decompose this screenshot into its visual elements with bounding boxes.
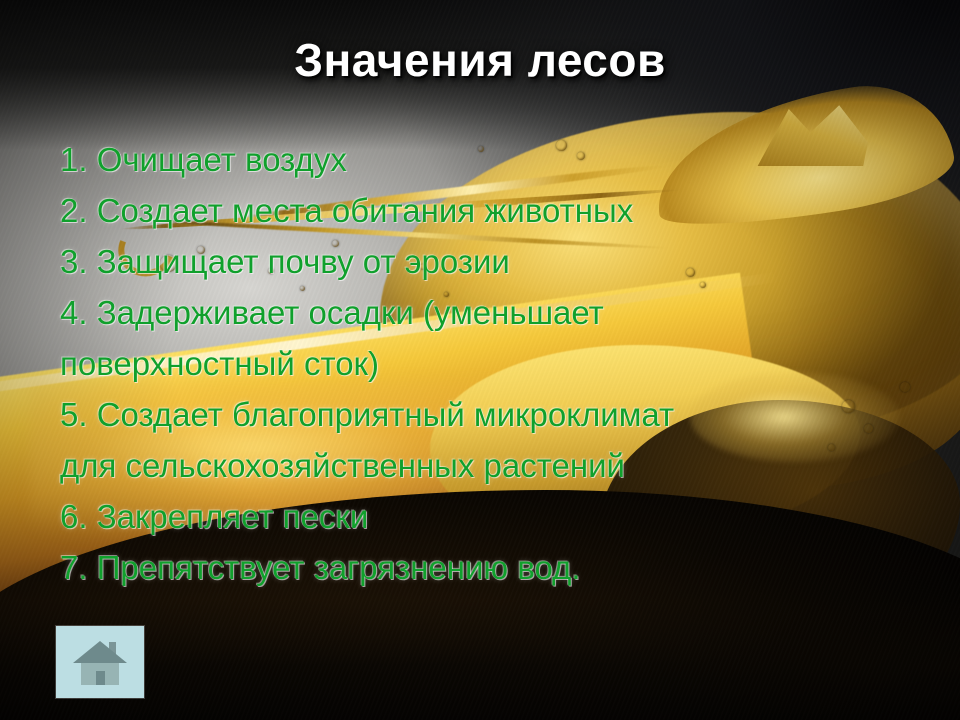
page-title: Значения лесов: [0, 33, 960, 87]
list-item: 4. Задерживает осадки (уменьшает: [60, 287, 910, 338]
home-icon: [71, 637, 129, 687]
list-item: 6. Закрепляет пески: [60, 491, 910, 542]
list-item: 3. Защищает почву от эрозии: [60, 236, 910, 287]
list-item: 2. Создает места обитания животных: [60, 185, 910, 236]
presentation-slide: Значения лесов 1. Очищает воздух 2. Созд…: [0, 0, 960, 720]
benefits-list: 1. Очищает воздух 2. Создает места обита…: [60, 134, 910, 593]
list-item: 1. Очищает воздух: [60, 134, 910, 185]
list-item-continuation: поверхностный сток): [60, 338, 910, 389]
slide-content: Значения лесов 1. Очищает воздух 2. Созд…: [0, 0, 960, 720]
list-item: 5. Создает благоприятный микроклимат: [60, 389, 910, 440]
list-item: 7. Препятствует загрязнению вод.: [60, 542, 910, 593]
home-button[interactable]: [56, 626, 144, 698]
list-item-continuation: для сельскохозяйственных растений: [60, 440, 910, 491]
